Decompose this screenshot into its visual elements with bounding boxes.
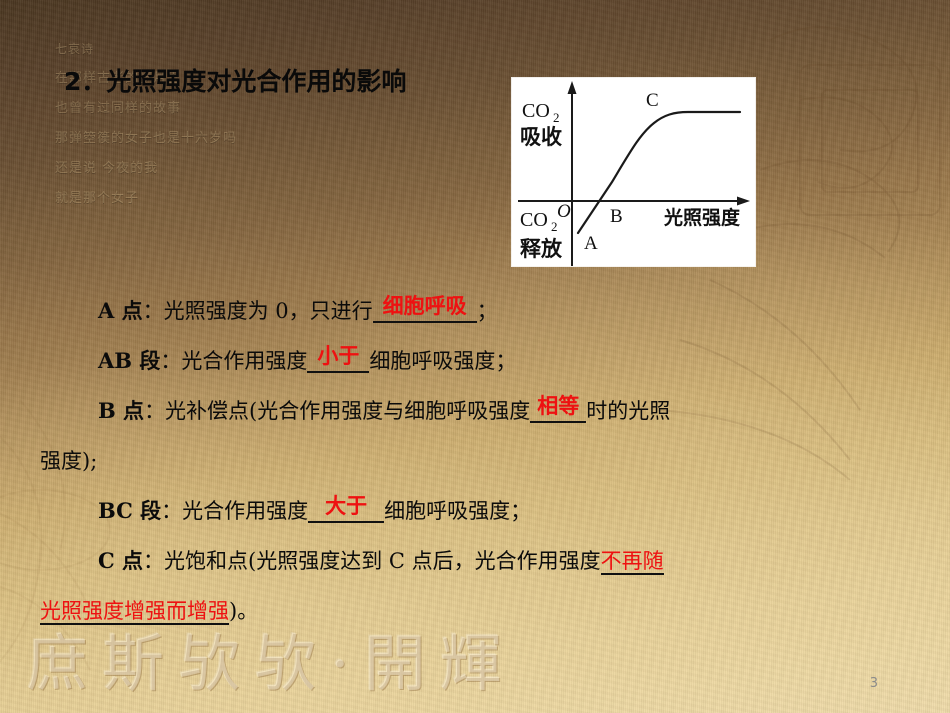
statement-point-a: A 点：光照强度为 0，只进行细胞呼吸；	[40, 286, 920, 336]
statement-segment-ab: AB 段：光合作用强度小于细胞呼吸强度；	[40, 336, 920, 386]
statement-list: A 点：光照强度为 0，只进行细胞呼吸； AB 段：光合作用强度小于细胞呼吸强度…	[40, 286, 920, 636]
statement-a-label: A 点	[98, 298, 143, 323]
chart-point-label-a: A	[584, 233, 598, 254]
statement-a-tail: ；	[477, 299, 498, 323]
poem-line-4: 还是说 今夜的我	[55, 154, 355, 184]
answer-blank-c-part1[interactable]: 不再随	[601, 549, 664, 575]
slide-canvas: 七哀诗 在那样古老的岁月里 也曾有过同样的故事 那弹箜篌的女子也是十六岁吗 还是…	[0, 0, 950, 713]
chart-y-axis-arrow	[568, 81, 577, 94]
statement-point-b-wrap: 强度);	[40, 436, 920, 486]
statement-b-label: B 点	[98, 398, 144, 423]
answer-blank-bc[interactable]: 大于	[308, 500, 384, 523]
statement-c-label: C 点	[98, 548, 143, 573]
answer-blank-a[interactable]: 细胞呼吸	[373, 300, 477, 323]
statement-a-text: ：光照强度为 0，只进行	[143, 299, 373, 323]
statement-b-tail: 时的光照	[586, 399, 670, 423]
chart-point-label-b: B	[610, 206, 623, 227]
chart-origin-label: O	[557, 201, 571, 222]
chart-xlabel-light-intensity: 光照强度	[663, 206, 741, 229]
page-number: 3	[870, 676, 878, 691]
poem-line-0: 七哀诗	[55, 34, 355, 64]
answer-blank-c-part2[interactable]: 光照强度增强而增强	[40, 599, 229, 625]
statement-c-tail: )。	[229, 599, 258, 623]
light-intensity-photosynthesis-chart: CO 2 吸收 CO 2 释放 O A B C 光照强度	[512, 78, 755, 266]
chart-ylabel-co2-top-subscript: 2	[553, 110, 560, 125]
answer-blank-b[interactable]: 相等	[530, 400, 586, 423]
chart-ylabel-co2-top: CO	[522, 100, 550, 122]
chart-ylabel-release: 释放	[520, 236, 563, 261]
chart-ylabel-co2-bottom: CO	[520, 209, 548, 231]
chart-point-label-c: C	[646, 90, 659, 111]
statement-bc-tail: 细胞呼吸强度；	[384, 499, 531, 523]
statement-point-b: B 点：光补偿点(光合作用强度与细胞呼吸强度相等时的光照	[40, 386, 920, 436]
statement-bc-label: BC 段	[98, 498, 161, 523]
statement-point-c: C 点：光饱和点(光照强度达到 C 点后，光合作用强度不再随	[40, 536, 920, 586]
background-poem-watermark: 七哀诗 在那样古老的岁月里 也曾有过同样的故事 那弹箜篌的女子也是十六岁吗 还是…	[55, 34, 355, 214]
statement-ab-text: ：光合作用强度	[160, 349, 307, 373]
poem-line-3: 那弹箜篌的女子也是十六岁吗	[55, 124, 355, 154]
chart-x-axis-arrow	[737, 197, 750, 206]
statement-bc-text: ：光合作用强度	[161, 499, 308, 523]
poem-line-5: 就是那个女子	[55, 184, 355, 214]
statement-ab-tail: 细胞呼吸强度；	[369, 349, 516, 373]
answer-blank-ab[interactable]: 小于	[307, 350, 369, 373]
statement-point-c-wrap: 光照强度增强而增强)。	[40, 586, 920, 636]
page-title: 2．光照强度对光合作用的影响	[64, 62, 406, 98]
statement-b-wrap-text: 强度);	[40, 449, 97, 473]
poem-line-2: 也曾有过同样的故事	[55, 94, 355, 124]
chart-ylabel-absorb: 吸收	[520, 124, 562, 149]
statement-b-text: ：光补偿点(光合作用强度与细胞呼吸强度	[144, 399, 530, 423]
statement-c-text: ：光饱和点(光照强度达到 C 点后，光合作用强度	[143, 549, 601, 573]
statement-ab-label: AB 段	[98, 348, 160, 373]
statement-segment-bc: BC 段：光合作用强度大于细胞呼吸强度；	[40, 486, 920, 536]
